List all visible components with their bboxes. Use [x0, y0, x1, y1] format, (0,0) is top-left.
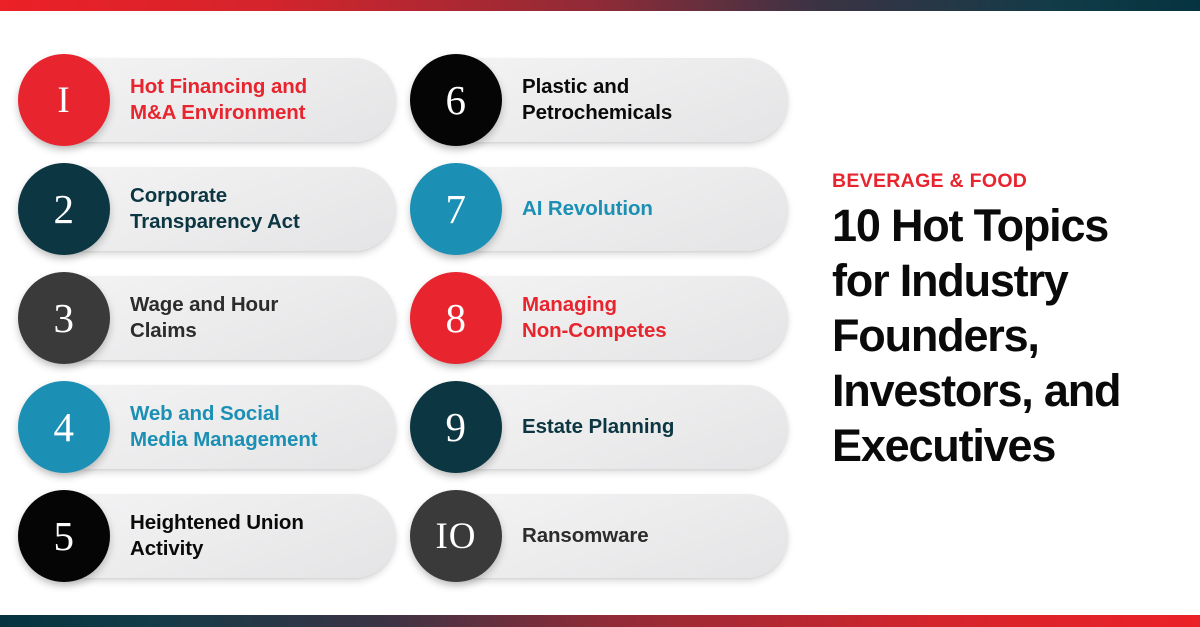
topic-number-badge: 7	[410, 163, 502, 255]
topic-number-badge: 4	[18, 381, 110, 473]
topic-label-line: Heightened Union	[130, 510, 386, 536]
topic-label-line: Activity	[130, 536, 386, 562]
topic-label: Hot Financing andM&A Environment	[130, 54, 386, 146]
topic-label-line: Plastic and	[522, 74, 778, 100]
topic-row[interactable]: 7AI Revolution	[410, 163, 788, 255]
topic-number-badge: 8	[410, 272, 502, 364]
topic-label-line: Web and Social	[130, 401, 386, 427]
topic-label-line: Petrochemicals	[522, 100, 778, 126]
headline-line: 10 Hot Topics	[832, 199, 1188, 254]
headline-line: Founders,	[832, 309, 1188, 364]
headline-line: for Industry	[832, 254, 1188, 309]
page-title: 10 Hot Topicsfor IndustryFounders,Invest…	[832, 199, 1188, 473]
headline-line: Executives	[832, 419, 1188, 474]
topic-row[interactable]: 9Estate Planning	[410, 381, 788, 473]
topic-label-line: Ransomware	[522, 523, 778, 549]
headline-block: BEVERAGE & FOOD 10 Hot Topicsfor Industr…	[832, 170, 1188, 473]
topic-label: ManagingNon-Competes	[522, 272, 778, 364]
topic-row[interactable]: IHot Financing andM&A Environment	[18, 54, 396, 146]
topic-label-line: Wage and Hour	[130, 292, 386, 318]
topic-label-line: Estate Planning	[522, 414, 778, 440]
topic-label-line: Claims	[130, 318, 386, 344]
topic-label: Estate Planning	[522, 381, 778, 473]
topic-label: Heightened UnionActivity	[130, 490, 386, 582]
topic-number-badge: 9	[410, 381, 502, 473]
topic-label-line: Hot Financing and	[130, 74, 386, 100]
kicker-label: BEVERAGE & FOOD	[832, 170, 1188, 193]
topic-label-line: Transparency Act	[130, 209, 386, 235]
topic-label-line: Managing	[522, 292, 778, 318]
topic-number-badge: 6	[410, 54, 502, 146]
topic-row[interactable]: 6Plastic andPetrochemicals	[410, 54, 788, 146]
topics-column-left: IHot Financing andM&A Environment2Corpor…	[18, 54, 396, 582]
topic-row[interactable]: 5Heightened UnionActivity	[18, 490, 396, 582]
topic-label-line: Media Management	[130, 427, 386, 453]
topic-label: Plastic andPetrochemicals	[522, 54, 778, 146]
headline-line: Investors, and	[832, 364, 1188, 419]
infographic-canvas: IHot Financing andM&A Environment2Corpor…	[0, 0, 1200, 627]
topic-row[interactable]: 2CorporateTransparency Act	[18, 163, 396, 255]
topic-label: CorporateTransparency Act	[130, 163, 386, 255]
topic-label-line: Non-Competes	[522, 318, 778, 344]
topic-row[interactable]: 4Web and SocialMedia Management	[18, 381, 396, 473]
topic-number-badge: 2	[18, 163, 110, 255]
bottom-gradient-bar	[0, 615, 1200, 627]
topics-column-right: 6Plastic andPetrochemicals7AI Revolution…	[410, 54, 788, 582]
topic-label-line: Corporate	[130, 183, 386, 209]
topic-label-line: M&A Environment	[130, 100, 386, 126]
topic-label: Wage and HourClaims	[130, 272, 386, 364]
topic-number-badge: I	[18, 54, 110, 146]
topic-label: AI Revolution	[522, 163, 778, 255]
topic-row[interactable]: IORansomware	[410, 490, 788, 582]
topic-row[interactable]: 8ManagingNon-Competes	[410, 272, 788, 364]
topic-number-badge: 3	[18, 272, 110, 364]
top-gradient-bar	[0, 0, 1200, 11]
topic-number-badge: 5	[18, 490, 110, 582]
topic-row[interactable]: 3Wage and HourClaims	[18, 272, 396, 364]
topic-number-badge: IO	[410, 490, 502, 582]
topic-label: Web and SocialMedia Management	[130, 381, 386, 473]
topic-label: Ransomware	[522, 490, 778, 582]
topic-label-line: AI Revolution	[522, 196, 778, 222]
